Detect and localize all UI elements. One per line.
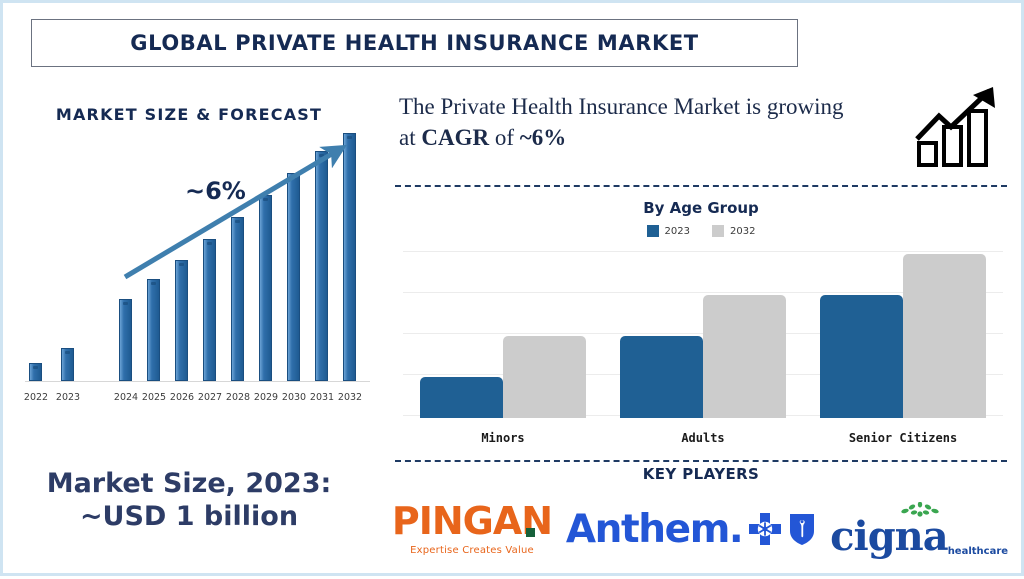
logo-anthem: Anthem. xyxy=(566,510,816,549)
bar-minors-2023 xyxy=(420,377,503,418)
growth-bar-chart-arrow-icon xyxy=(913,83,1003,169)
bar-senior-2023 xyxy=(820,295,903,418)
legend-label-2023: 2023 xyxy=(665,226,690,237)
axis-label-adults: Adults xyxy=(603,431,803,445)
year-label: 2032 xyxy=(332,392,368,403)
market-size-forecast-heading: MARKET SIZE & FORECAST xyxy=(3,105,375,124)
market-size-forecast-chart: 2022 2023 2024 2025 2026 2027 2028 2029 … xyxy=(17,133,372,433)
key-players-title: KEY PLAYERS xyxy=(375,465,1024,483)
chart-baseline xyxy=(25,381,370,382)
logo-cigna: cigna healthcare xyxy=(830,502,1010,557)
title-box: GLOBAL PRIVATE HEALTH INSURANCE MARKET xyxy=(31,19,798,67)
by-age-group-legend: 2023 2032 xyxy=(375,225,1024,237)
legend-label-2032: 2032 xyxy=(730,226,755,237)
forecast-bars xyxy=(17,133,372,381)
page-title: GLOBAL PRIVATE HEALTH INSURANCE MARKET xyxy=(130,31,698,55)
bar-adults-2032 xyxy=(703,295,786,418)
axis-label-minors: Minors xyxy=(403,431,603,445)
bar-2023 xyxy=(61,348,74,381)
year-label: 2023 xyxy=(50,392,86,403)
bar-2024 xyxy=(119,299,132,381)
axis-label-seniors: Senior Citizens xyxy=(803,431,1003,445)
bar-2026 xyxy=(175,260,188,381)
pingan-tagline: Expertise Creates Value xyxy=(410,545,534,556)
legend-swatch-2032 xyxy=(712,225,724,237)
group-minors xyxy=(403,264,603,418)
bar-2027 xyxy=(203,239,216,381)
bar-2028 xyxy=(231,217,244,381)
group-adults xyxy=(603,264,803,418)
market-size-line-2: ~USD 1 billion xyxy=(3,501,375,534)
logo-pingan: PINGAN Expertise Creates Value xyxy=(392,502,552,556)
pingan-green-square-icon xyxy=(526,528,535,537)
bar-senior-2032 xyxy=(903,254,986,418)
forecast-year-labels: 2022 2023 2024 2025 2026 2027 2028 2029 … xyxy=(17,387,372,403)
cagr-statement-bold-cagr: CAGR xyxy=(421,125,489,150)
age-group-axis-labels: Minors Adults Senior Citizens xyxy=(403,431,1003,445)
bar-2029 xyxy=(259,195,272,381)
left-panel: MARKET SIZE & FORECAST 2022 2023 2024 xyxy=(3,73,375,579)
bar-2032 xyxy=(343,133,356,381)
bar-adults-2023 xyxy=(620,336,703,418)
infographic-canvas: GLOBAL PRIVATE HEALTH INSURANCE MARKET M… xyxy=(0,0,1024,576)
blue-shield-icon xyxy=(788,512,816,546)
bar-2031 xyxy=(315,151,328,381)
cigna-tagline: healthcare xyxy=(948,546,1008,557)
cigna-wordmark: cigna xyxy=(830,517,948,557)
anthem-wordmark: Anthem. xyxy=(566,510,742,549)
legend-item-2032: 2032 xyxy=(712,225,755,237)
group-senior-citizens xyxy=(803,264,1003,418)
bar-2022 xyxy=(29,363,42,381)
divider-top xyxy=(395,185,1007,187)
cagr-statement-bold-pct: ~6% xyxy=(520,125,566,150)
by-age-group-title: By Age Group xyxy=(375,199,1024,217)
bar-2030 xyxy=(287,173,300,381)
gridline xyxy=(403,251,1003,252)
legend-swatch-2023 xyxy=(647,225,659,237)
cagr-annotation-left: ~6% xyxy=(185,177,246,205)
year-label: 2022 xyxy=(18,392,54,403)
blue-cross-icon xyxy=(748,512,782,546)
cagr-statement: The Private Health Insurance Market is g… xyxy=(399,91,859,154)
key-players-logos: PINGAN Expertise Creates Value Anthem. xyxy=(385,489,1017,569)
cagr-statement-middle: of xyxy=(489,125,520,150)
by-age-group-chart: Minors Adults Senior Citizens xyxy=(403,251,1003,431)
age-group-bars xyxy=(403,264,1003,418)
market-size-callout: Market Size, 2023: ~USD 1 billion xyxy=(3,468,375,534)
market-size-line-1: Market Size, 2023: xyxy=(3,468,375,501)
legend-item-2023: 2023 xyxy=(647,225,690,237)
bar-minors-2032 xyxy=(503,336,586,418)
right-panel: The Private Health Insurance Market is g… xyxy=(375,73,1024,579)
bar-2025 xyxy=(147,279,160,381)
divider-bottom xyxy=(395,460,1007,462)
